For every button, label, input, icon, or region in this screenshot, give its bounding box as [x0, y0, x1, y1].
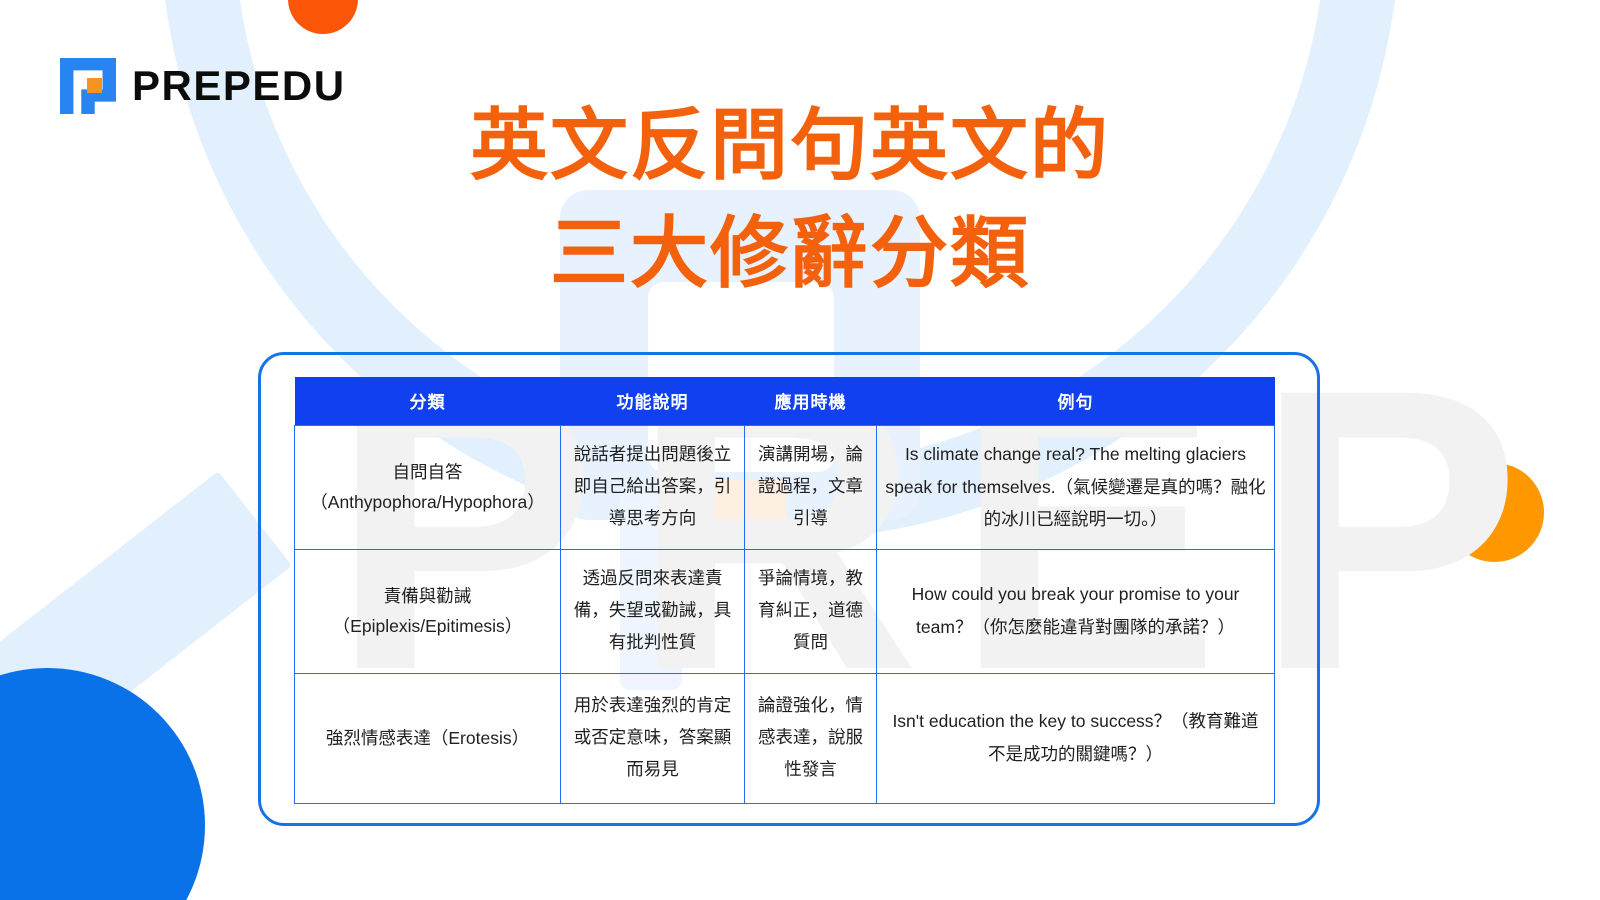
page-title-line-1: 英文反問句英文的	[400, 92, 1180, 200]
cell-timing: 演講開場，論證過程，文章引導	[745, 425, 877, 549]
column-header-function: 功能說明	[561, 377, 745, 425]
page-title-line-2: 三大修辭分類	[400, 200, 1180, 308]
table-row: 自問自答（Anthypophora/Hypophora） 說話者提出問題後立即自…	[295, 425, 1275, 549]
cell-timing: 爭論情境，教育糾正，道德質問	[745, 549, 877, 673]
prepedu-logo-icon	[60, 58, 116, 114]
page-title: 英文反問句英文的 三大修辭分類	[400, 92, 1180, 307]
cell-function: 說話者提出問題後立即自己給出答案，引導思考方向	[561, 425, 745, 549]
cell-category: 責備與勸誡（Epiplexis/Epitimesis）	[295, 549, 561, 673]
table-header-row: 分類 功能說明 應用時機 例句	[295, 377, 1275, 425]
cell-example: Isn't education the key to success？（教育難道…	[877, 673, 1275, 803]
cell-category: 自問自答（Anthypophora/Hypophora）	[295, 425, 561, 549]
cell-timing: 論證強化，情感表達，說服性發言	[745, 673, 877, 803]
column-header-example: 例句	[877, 377, 1275, 425]
blue-circle-decoration	[0, 668, 205, 900]
orange-circle-decoration	[1445, 463, 1544, 562]
infographic-canvas: PREP PREPEDU 英文反問句英文的 三大修辭分類 分類 功能說明 應用時…	[0, 0, 1600, 900]
pale-blue-band-decoration	[0, 471, 292, 769]
column-header-timing: 應用時機	[745, 377, 877, 425]
brand-logo: PREPEDU	[60, 58, 346, 114]
column-header-category: 分類	[295, 377, 561, 425]
cell-function: 用於表達強烈的肯定或否定意味，答案顯而易見	[561, 673, 745, 803]
cell-example: Is climate change real? The melting glac…	[877, 425, 1275, 549]
cell-example: How could you break your promise to your…	[877, 549, 1275, 673]
classification-table: 分類 功能說明 應用時機 例句 自問自答（Anthypophora/Hypoph…	[294, 377, 1275, 804]
table-row: 責備與勸誡（Epiplexis/Epitimesis） 透過反問來表達責備，失望…	[295, 549, 1275, 673]
classification-table-wrapper: 分類 功能說明 應用時機 例句 自問自答（Anthypophora/Hypoph…	[294, 377, 1274, 807]
cell-function: 透過反問來表達責備，失望或勸誡，具有批判性質	[561, 549, 745, 673]
cell-category: 強烈情感表達（Erotesis）	[295, 673, 561, 803]
brand-name: PREPEDU	[132, 62, 346, 110]
table-row: 強烈情感表達（Erotesis） 用於表達強烈的肯定或否定意味，答案顯而易見 論…	[295, 673, 1275, 803]
orange-half-circle-decoration	[288, 0, 358, 34]
